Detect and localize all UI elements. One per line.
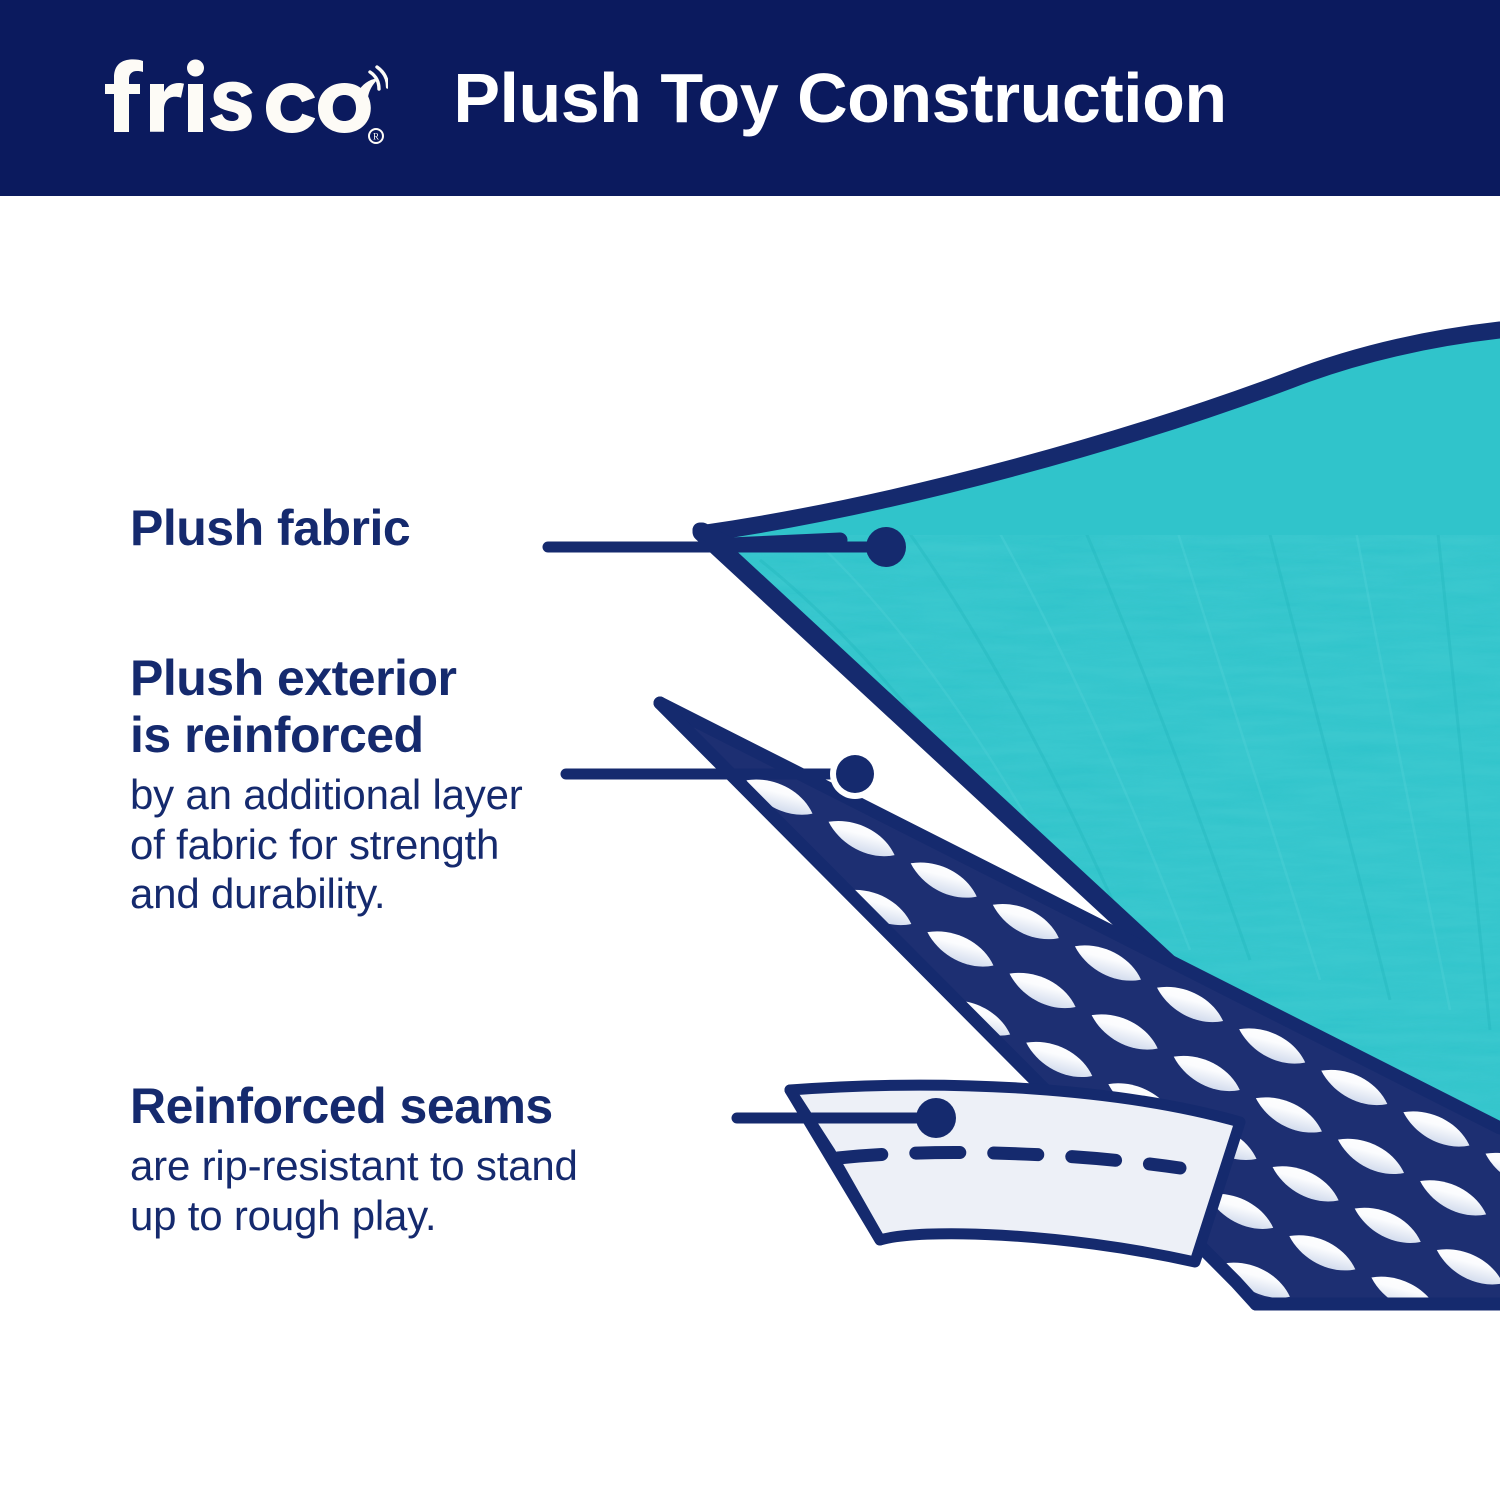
header-bar: R Plush Toy Construction <box>0 0 1500 196</box>
page-title: Plush Toy Construction <box>0 0 1500 196</box>
callout-heading-line2-plush-exterior: is reinforced <box>130 707 523 764</box>
callout-heading-reinforced-seams: Reinforced seams <box>130 1078 578 1135</box>
callout-plush-exterior: Plush exterior is reinforced by an addit… <box>130 650 523 919</box>
callout-body-line1-plush-exterior: by an additional layer <box>130 770 523 820</box>
seam-flap-layer <box>790 1085 1240 1262</box>
callout-leaders <box>548 527 956 1138</box>
infographic-canvas: R Plush Toy Construction Plush fabric Pl… <box>0 0 1500 1500</box>
callout-body-line2-reinforced-seams: up to rough play. <box>130 1191 578 1241</box>
callout-reinforced-seams: Reinforced seams are rip-resistant to st… <box>130 1078 578 1240</box>
callout-heading-plush-fabric: Plush fabric <box>130 500 410 557</box>
leader-dot-plush-fabric <box>866 527 906 567</box>
leader-dot-plush-exterior <box>836 755 874 793</box>
reinforcement-mesh-layer <box>472 703 1500 1500</box>
callout-body-line2-plush-exterior: of fabric for strength <box>130 820 523 870</box>
leader-dot-reinforced-seams <box>916 1098 956 1138</box>
leader-dot-ring-plush-exterior <box>830 749 880 799</box>
callout-plush-fabric: Plush fabric <box>130 500 410 557</box>
callout-body-line3-plush-exterior: and durability. <box>130 869 523 919</box>
callout-heading-line1-plush-exterior: Plush exterior <box>130 650 523 707</box>
callout-body-line1-reinforced-seams: are rip-resistant to stand <box>130 1141 578 1191</box>
stitch-dashed-line <box>838 1153 1180 1168</box>
plush-fabric-layer <box>700 330 1500 1170</box>
